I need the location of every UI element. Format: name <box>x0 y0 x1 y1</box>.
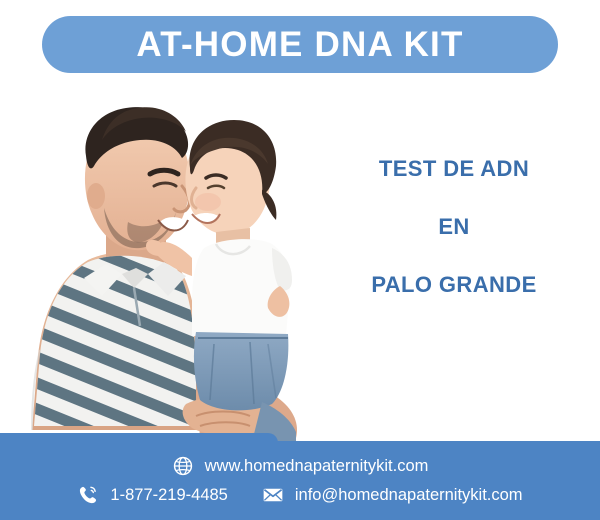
headline-block: TEST DE ADN EN PALO GRANDE <box>320 158 588 296</box>
email-item[interactable]: info@homednapaternitykit.com <box>262 484 523 506</box>
phone-icon <box>77 484 99 506</box>
page-title: AT-HOME DNA KIT <box>136 27 463 62</box>
footer-contact-group: www.homednapaternitykit.com 1-877-219-44… <box>0 441 600 520</box>
footer-row-website: www.homednapaternitykit.com <box>172 455 429 477</box>
website-item[interactable]: www.homednapaternitykit.com <box>172 455 429 477</box>
photo-illustration <box>0 82 330 450</box>
headline-line-3: PALO GRANDE <box>320 274 588 296</box>
father-and-child-photo <box>0 82 330 450</box>
website-label: www.homednapaternitykit.com <box>205 458 429 475</box>
headline-line-2: EN <box>320 216 588 238</box>
phone-item[interactable]: 1-877-219-4485 <box>77 484 227 506</box>
envelope-icon <box>262 484 284 506</box>
poster-canvas: AT-HOME DNA KIT <box>0 0 600 520</box>
footer-row-phone-email: 1-877-219-4485 info@homednapaternitykit.… <box>77 484 522 506</box>
headline-line-1: TEST DE ADN <box>320 158 588 180</box>
header-banner: AT-HOME DNA KIT <box>42 16 558 73</box>
phone-label: 1-877-219-4485 <box>110 487 227 504</box>
email-label: info@homednapaternitykit.com <box>295 487 523 504</box>
globe-icon <box>172 455 194 477</box>
